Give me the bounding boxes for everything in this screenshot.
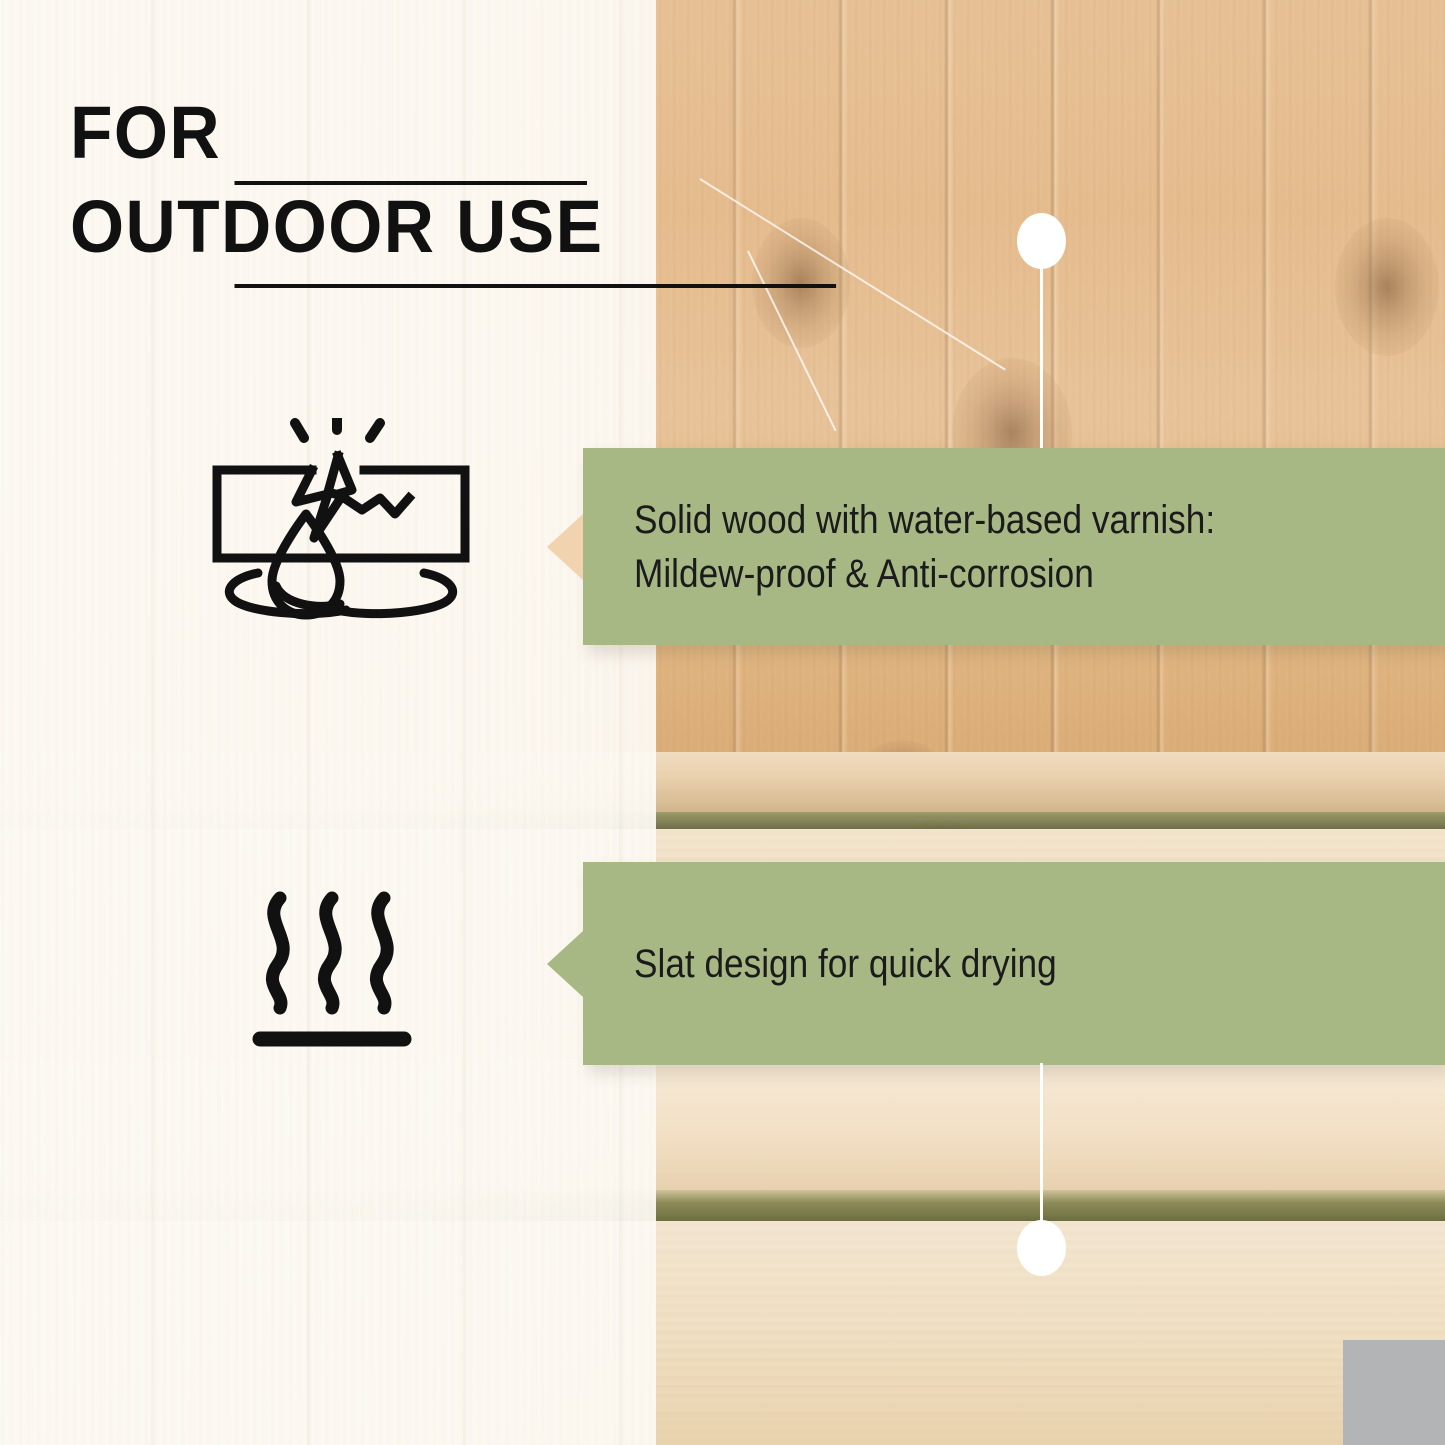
callout-leader-line-1 — [1040, 240, 1043, 455]
headline-line-2: OUTDOOR USE — [70, 180, 841, 274]
feature-callout-quick-drying[interactable]: Slat design for quick drying — [583, 862, 1445, 1065]
feature-callout-text: Solid wood with water-based varnish: Mil… — [583, 493, 1242, 601]
page-title: FOR OUTDOOR USE — [70, 86, 841, 274]
callout-marker-dot-1 — [1017, 213, 1066, 269]
cracked-board-water-drop-icon — [212, 418, 470, 630]
wood-knot — [1335, 218, 1439, 356]
headline-underline-1 — [235, 181, 588, 185]
headline-line-1: FOR — [70, 86, 841, 180]
infographic-canvas: FOR OUTDOOR USE — [0, 0, 1445, 1445]
callout-arrow-icon — [547, 931, 583, 997]
heat-waves-drying-icon — [252, 886, 412, 1054]
callout-arrow-icon — [547, 514, 583, 580]
headline-underline-2 — [235, 284, 837, 288]
corner-color-swatch — [1343, 1340, 1445, 1445]
feature-callout-water-resistance[interactable]: Solid wood with water-based varnish: Mil… — [583, 448, 1445, 645]
feature-callout-text: Slat design for quick drying — [583, 937, 1083, 991]
callout-marker-dot-2 — [1017, 1220, 1066, 1276]
